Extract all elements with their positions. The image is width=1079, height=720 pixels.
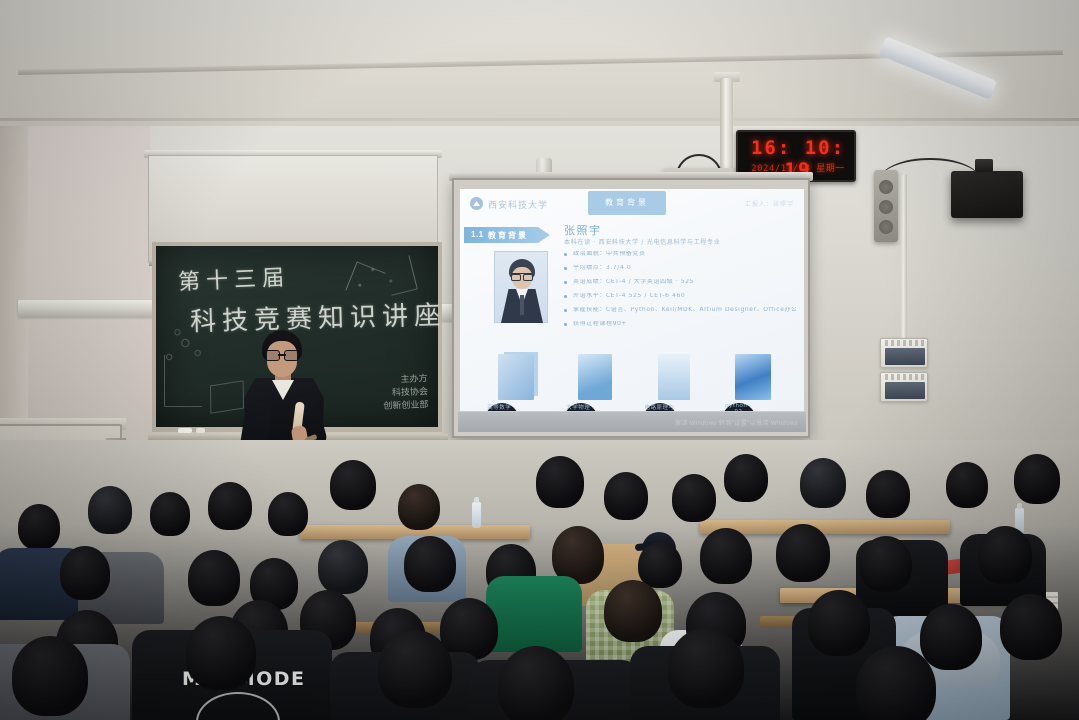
- slide-section-number: 1.1: [471, 230, 484, 239]
- slide-header-tab-label: 教育背景: [588, 197, 666, 208]
- slide-bullet: 掌握技能：C语言、Python、Keil/MDK、Altium Designer…: [564, 307, 796, 314]
- slide-textbook-item: python · 92: [722, 354, 784, 403]
- audience-head: [866, 470, 910, 518]
- wall-control-panel-upper[interactable]: [880, 338, 928, 368]
- slide-section-chip: 1.1 教育背景: [464, 227, 550, 243]
- chalk-stick[interactable]: [196, 428, 205, 433]
- slide-bullet: 政治面貌：中共预备党员: [564, 251, 796, 258]
- textbook-cover-icon: [658, 354, 690, 400]
- projector-mount-pole: [720, 78, 733, 176]
- slide-bullet: 获得过程课程90+: [564, 321, 796, 328]
- audience-head: [946, 462, 988, 508]
- audience-head: [800, 458, 846, 508]
- slide-header-tab: 教育背景: [588, 191, 666, 215]
- slide-textbook-item: 高等数学 · 92: [485, 354, 547, 403]
- slide-textbook-item: 电路原理与电路基础 · 94: [643, 354, 705, 403]
- audience-head: [860, 536, 912, 592]
- audience-head: [150, 492, 190, 536]
- panel-display: [885, 382, 925, 399]
- slide-bullet: 外语水平：CET-4 525 / CET-6 460: [564, 293, 796, 300]
- textbook-caption: 电路原理与电路基础 · 94: [643, 403, 677, 411]
- audience-head: [440, 598, 498, 660]
- audience-head: [856, 646, 936, 720]
- audience-head: [318, 540, 368, 594]
- audience-head: [186, 616, 256, 690]
- audience-head: [776, 524, 830, 582]
- ceiling-seam: [0, 118, 1079, 121]
- audience-head: [604, 580, 662, 642]
- audience-head: [12, 636, 88, 716]
- textbook-caption: 高等数学 · 92: [485, 403, 519, 411]
- wall-cable-conduit: [901, 175, 907, 340]
- chalk-beaker-drawing: [164, 355, 202, 407]
- audience-head: [378, 630, 452, 708]
- wall-speaker-grey: [874, 170, 898, 242]
- audience-head: [18, 504, 60, 550]
- university-logo-icon: [470, 197, 483, 210]
- water-bottle: [472, 502, 481, 528]
- audience-head: [208, 482, 252, 530]
- blackboard-organizer: 主办方 科技协会 创新创业部: [382, 373, 428, 414]
- textbook-cover-icon: [498, 354, 534, 400]
- windows-activation-watermark: 激活 Windows 转到"设置"以激活 Windows: [675, 418, 798, 427]
- slide-section-title: 教育背景: [488, 230, 528, 241]
- chalk-stick[interactable]: [178, 428, 192, 433]
- audience-head: [330, 460, 376, 510]
- audience-head: [268, 492, 308, 536]
- panel-label-strip: [885, 374, 925, 380]
- audience-head: [398, 484, 440, 530]
- panel-display: [885, 348, 925, 365]
- audience-head: [724, 454, 768, 502]
- audience-head: [808, 590, 870, 656]
- presentation-slide: 西安科技大学 教育背景 汇报人：张照宇 1.1 教育背景 张照宇 本科在读 · …: [460, 189, 804, 411]
- audience-head: [978, 526, 1032, 584]
- audience-head: [672, 474, 716, 522]
- slide-person-subtitle: 本科在读 · 西安科技大学 / 光电信息科学与工程专业: [564, 237, 720, 246]
- presenter-glasses-icon: [265, 350, 299, 359]
- slide-header-presenter: 汇报人：张照宇: [745, 199, 794, 208]
- slide-university-name: 西安科技大学: [488, 198, 548, 211]
- panel-label-strip: [885, 340, 925, 346]
- audience-head: [88, 486, 132, 534]
- slide-textbook-item: 大学物理 · 92: [564, 354, 626, 403]
- slide-bullet-list: 政治面貌：中共预备党员 平均绩点：3.7/4.0 英语成绩：CET-4 / 大学…: [564, 251, 796, 336]
- audience-head: [604, 472, 648, 520]
- slide-person-name: 张照宇: [564, 222, 602, 238]
- audience-head: [404, 536, 456, 592]
- textbook-caption: 大学物理 · 92: [564, 403, 598, 411]
- audience-area: MAGMODE: [0, 440, 1079, 720]
- slide-portrait-photo: [494, 251, 548, 323]
- audience-head: [1000, 594, 1062, 660]
- slide-header: 西安科技大学 教育背景 汇报人：张照宇: [460, 189, 804, 217]
- blackboard-title-line1: 第十三届: [177, 260, 290, 297]
- audience-head: [498, 646, 574, 720]
- audience-head: [60, 546, 110, 600]
- audience-head: [1014, 454, 1060, 504]
- audience-head: [668, 628, 744, 708]
- audience-head: [188, 550, 240, 606]
- textbook-caption: python · 92: [722, 403, 756, 411]
- audience-head: [638, 542, 682, 588]
- wall-control-panel-lower[interactable]: [880, 372, 928, 402]
- lecture-hall-photo: 16: 10: 19 2024/11/18 星期一 西安科技大学 教育背景 汇报…: [0, 0, 1079, 720]
- audience-head: [920, 604, 982, 670]
- audience-torso-green-hoodie: [486, 576, 582, 652]
- audience-head: [700, 528, 752, 584]
- portrait-glasses-icon: [511, 273, 533, 278]
- textbook-cover-icon: [578, 354, 612, 400]
- blackboard-organizer-line3: 创新创业部: [383, 399, 428, 414]
- projection-screen: 西安科技大学 教育背景 汇报人：张照宇 1.1 教育背景 张照宇 本科在读 · …: [452, 178, 810, 438]
- wall-pillar-left: [0, 126, 28, 456]
- textbook-cover-icon: [735, 354, 771, 400]
- projection-screen-bottom-strip: 激活 Windows 转到"设置"以激活 Windows: [458, 412, 806, 432]
- slide-bullet: 英语成绩：CET-4 / 大学英语四级 · 525: [564, 279, 796, 286]
- audience-head: [536, 456, 584, 508]
- slide-bullet: 平均绩点：3.7/4.0: [564, 265, 796, 272]
- slide-textbook-row: 高等数学 · 92 大学物理 · 92 电路原理与电路基础 · 94 pytho…: [476, 337, 792, 403]
- wall-speaker-black: [951, 171, 1023, 218]
